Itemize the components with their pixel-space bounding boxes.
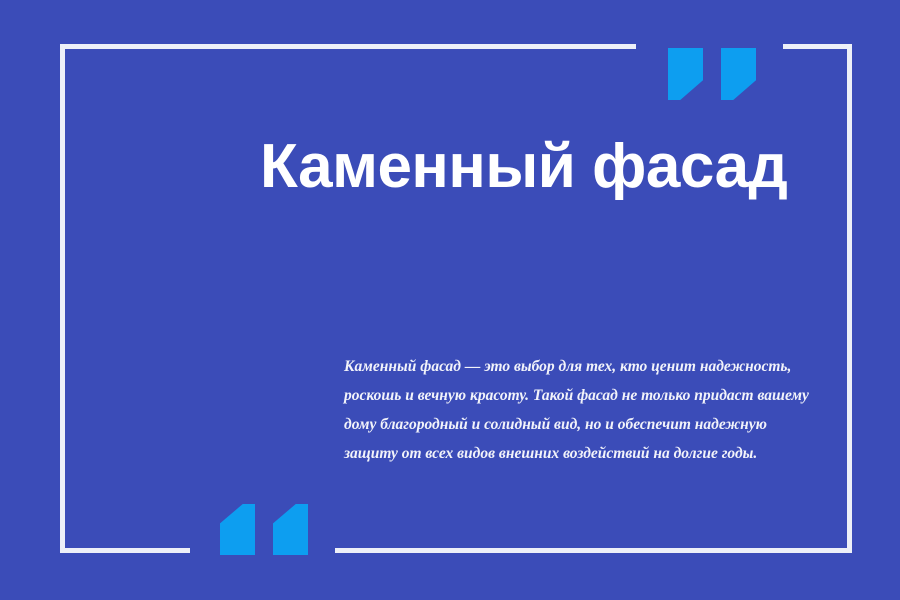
frame-border-left bbox=[60, 44, 65, 553]
frame-border-bottom-left bbox=[60, 548, 190, 553]
quote-mark-icon-stroke-2 bbox=[721, 48, 756, 100]
frame-border-top-right bbox=[783, 44, 852, 49]
frame-border-top-left bbox=[60, 44, 636, 49]
slide-canvas: Каменный фасад Каменный фасад — это выбо… bbox=[0, 0, 900, 600]
quote-mark-icon-bottom-left bbox=[220, 504, 308, 555]
quote-mark-icon-stroke-1 bbox=[668, 48, 703, 100]
quote-mark-icon-stroke-1 bbox=[220, 504, 255, 555]
quote-mark-icon-stroke-2 bbox=[273, 504, 308, 555]
quote-mark-icon-top-right bbox=[668, 48, 756, 100]
body-paragraph: Каменный фасад — это выбор для тех, кто … bbox=[344, 352, 816, 468]
frame-border-right bbox=[847, 44, 852, 553]
frame-border-bottom-right bbox=[335, 548, 852, 553]
page-title: Каменный фасад bbox=[260, 136, 787, 198]
